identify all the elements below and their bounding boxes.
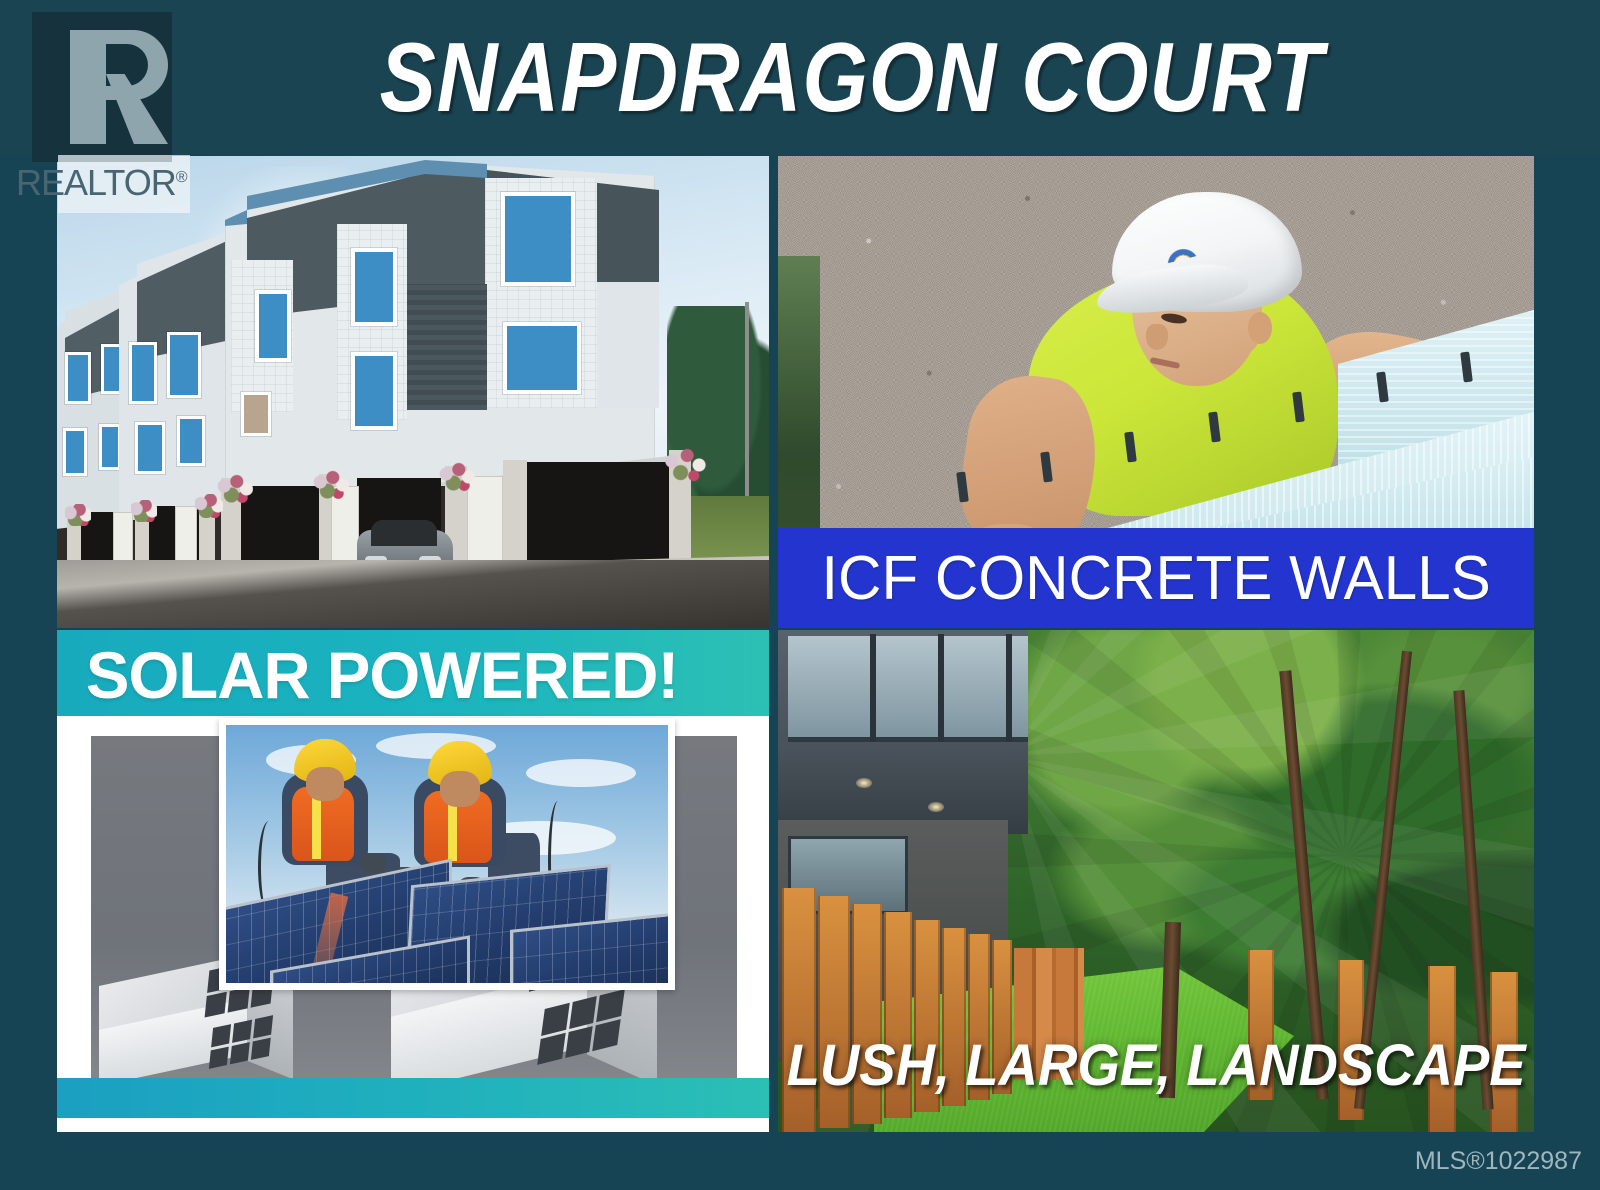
- window: [503, 322, 581, 394]
- window: [501, 192, 575, 286]
- solar-caption-text: SOLAR POWERED!: [60, 637, 678, 713]
- flower-basket: [439, 462, 475, 492]
- solar-caption-banner: SOLAR POWERED!: [57, 630, 769, 720]
- worker-nose: [1146, 324, 1168, 350]
- solar-gray-board: [91, 736, 737, 1084]
- mls-number: MLS®1022987: [1415, 1147, 1582, 1176]
- asphalt-driveway: [57, 560, 769, 628]
- glass-railing: [788, 636, 1028, 742]
- window: [351, 352, 397, 430]
- downlight: [856, 778, 872, 788]
- window: [129, 342, 157, 404]
- window: [65, 352, 91, 404]
- window: [135, 422, 165, 474]
- landscape-caption: LUSH, LARGE, LANDSCAPE: [778, 1026, 1534, 1104]
- worker-face: [440, 771, 480, 807]
- car-windshield: [371, 520, 437, 546]
- photo-townhouse-exterior: [57, 156, 769, 628]
- window: [177, 416, 205, 466]
- railing-post: [1006, 634, 1012, 744]
- downlight: [928, 802, 944, 812]
- worker-face: [306, 767, 344, 801]
- lap-siding: [407, 284, 487, 410]
- photo-backyard-landscape: LUSH, LARGE, LANDSCAPE: [778, 630, 1534, 1132]
- cloud: [526, 759, 636, 787]
- solar-white-frame: [57, 716, 769, 1132]
- listing-poster: SNAPDRAGON COURT REALTOR®: [0, 0, 1600, 1190]
- icf-caption-text: ICF CONCRETE WALLS: [821, 543, 1490, 614]
- worker-ear: [1248, 312, 1272, 344]
- railing-post: [870, 634, 876, 744]
- solar-bottom-accent-bar: [57, 1078, 769, 1118]
- landscape-caption-text: LUSH, LARGE, LANDSCAPE: [786, 1032, 1525, 1099]
- work-glove: [360, 853, 386, 873]
- decorative-panel: [241, 392, 271, 436]
- flower-basket: [131, 500, 157, 522]
- flower-basket: [195, 494, 223, 518]
- utility-pole: [745, 302, 749, 512]
- panel-solar-powered: SOLAR POWERED!: [57, 630, 769, 1132]
- icf-caption-banner: ICF CONCRETE WALLS: [778, 528, 1534, 628]
- window: [63, 428, 87, 476]
- window: [167, 332, 201, 398]
- window: [99, 424, 121, 470]
- balcony: [778, 630, 1028, 830]
- photo-icf-construction: ICF CONCRETE WALLS: [778, 156, 1534, 628]
- flower-basket: [313, 470, 349, 500]
- railing-post: [938, 634, 944, 744]
- poster-header: SNAPDRAGON COURT: [0, 0, 1600, 155]
- photo-solar-install: [219, 718, 675, 990]
- flower-basket: [65, 504, 91, 526]
- page-title: SNAPDRAGON COURT: [112, 0, 1488, 155]
- window: [351, 248, 397, 326]
- flower-basket: [663, 446, 707, 484]
- window: [255, 290, 291, 362]
